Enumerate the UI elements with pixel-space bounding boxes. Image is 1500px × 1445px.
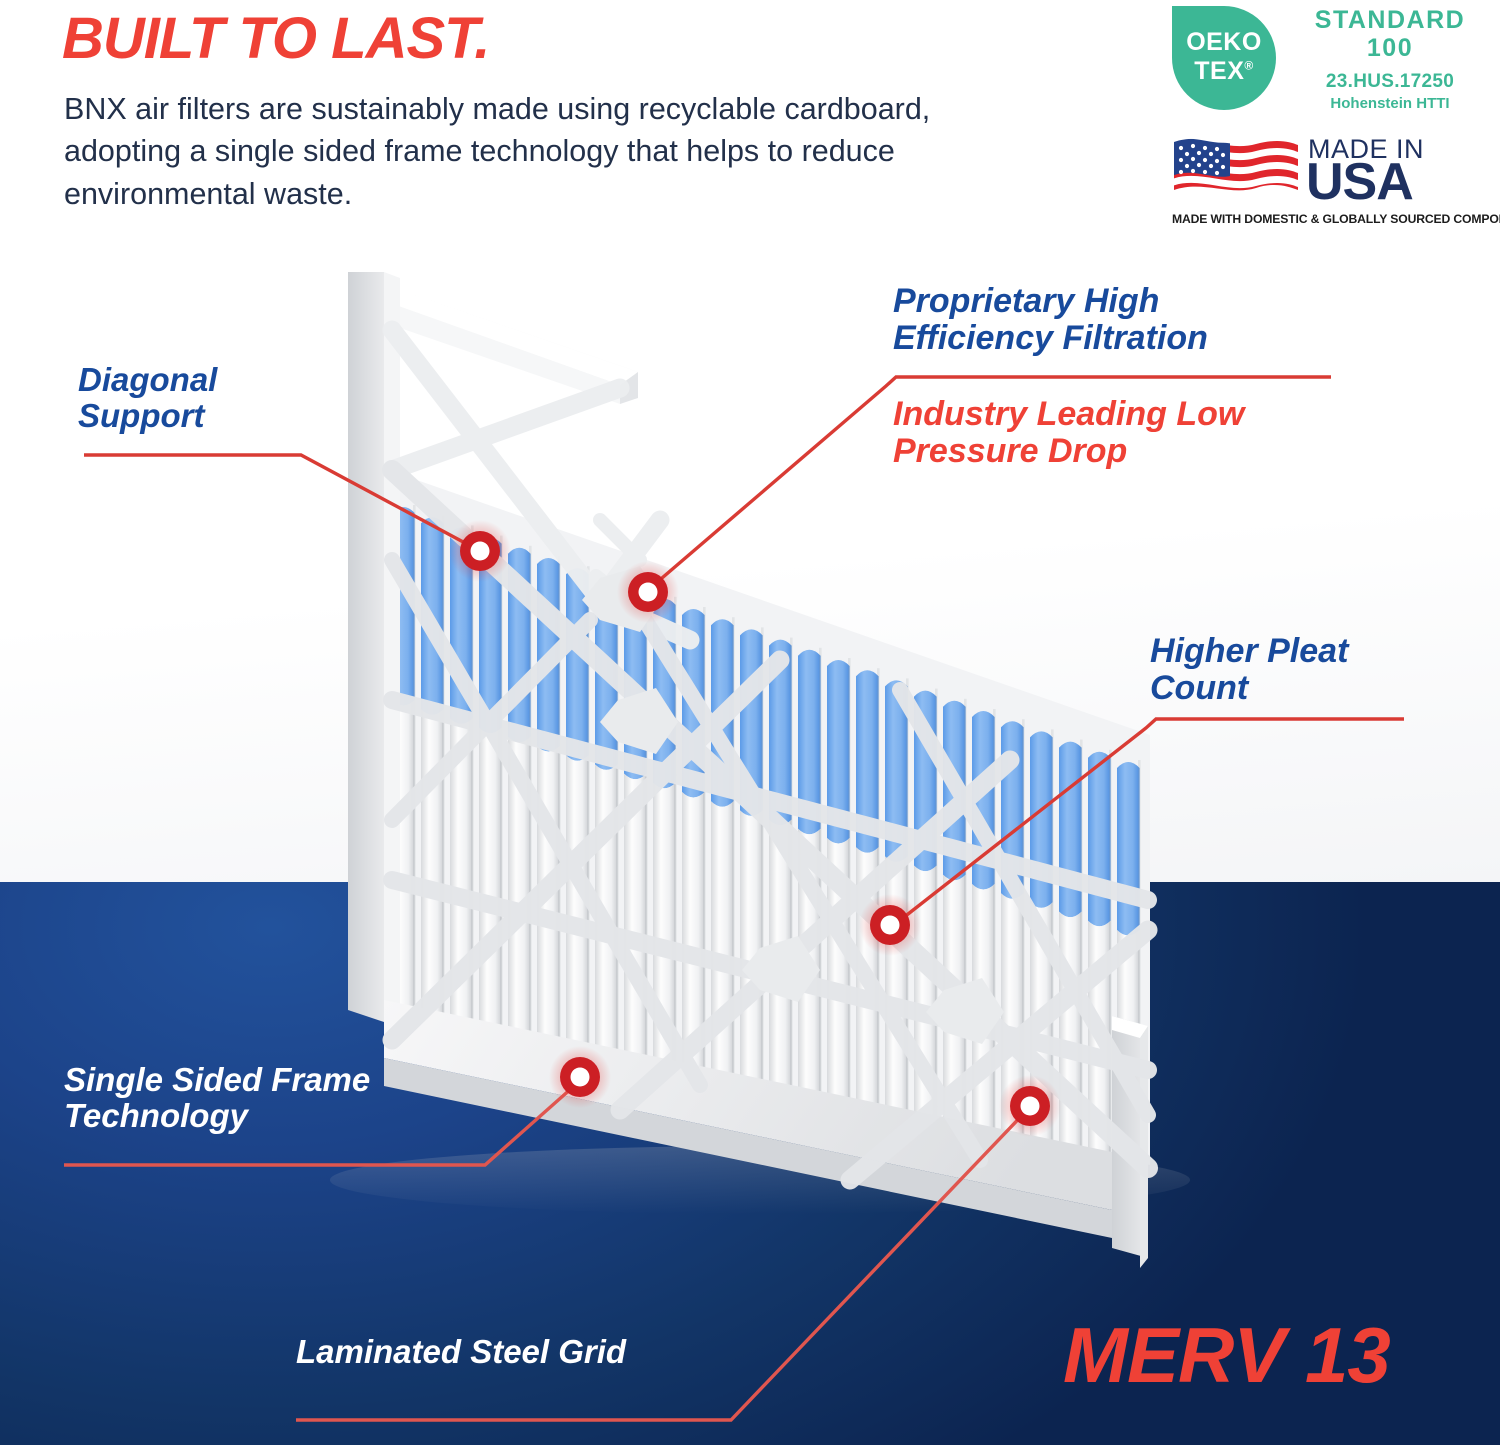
merv-rating-label: MERV 13 xyxy=(1063,1316,1390,1394)
callout-low-pressure-drop-line2: Pressure Drop xyxy=(893,433,1244,470)
callout-diagonal-support-line1: Diagonal xyxy=(78,362,217,398)
made-in-usa-line2: USA xyxy=(1306,156,1413,208)
callout-single-sided-frame-line2: Technology xyxy=(64,1098,370,1134)
oeko-tex-institute: Hohenstein HTTI xyxy=(1290,95,1490,112)
callout-single-sided-frame: Single Sided Frame Technology xyxy=(64,1062,370,1133)
callout-proprietary-filtration-line1: Proprietary High xyxy=(893,283,1208,320)
usa-flag-icon xyxy=(1172,132,1300,204)
callout-diagonal-support-line2: Support xyxy=(78,398,217,434)
oeko-tex-logo-line1: OEKO xyxy=(1172,30,1276,55)
callout-higher-pleat-count-line1: Higher Pleat xyxy=(1150,633,1348,670)
callout-laminated-steel-grid-line1: Laminated Steel Grid xyxy=(296,1334,626,1370)
made-in-usa-disclaimer: MADE WITH DOMESTIC & GLOBALLY SOURCED CO… xyxy=(1172,212,1492,226)
callout-higher-pleat-count-line2: Count xyxy=(1150,670,1348,707)
oeko-tex-logo-line2: TEX® xyxy=(1172,59,1276,84)
oeko-tex-text-block: STANDARD 100 23.HUS.17250 Hohenstein HTT… xyxy=(1290,6,1490,112)
infographic-root: BUILT TO LAST. BNX air filters are susta… xyxy=(0,0,1500,1445)
page-body-text: BNX air filters are sustainably made usi… xyxy=(64,88,944,215)
oeko-tex-droplet-logo: OEKO TEX® xyxy=(1172,6,1276,110)
made-in-usa-badge: MADE IN USA MADE WITH DOMESTIC & GLOBALL… xyxy=(1172,132,1492,232)
registered-trademark-icon: ® xyxy=(1244,59,1253,73)
callout-single-sided-frame-line1: Single Sided Frame xyxy=(64,1062,370,1098)
callout-low-pressure-drop-line1: Industry Leading Low xyxy=(893,396,1244,433)
callout-higher-pleat-count: Higher Pleat Count xyxy=(1150,633,1348,706)
callout-diagonal-support: Diagonal Support xyxy=(78,362,217,433)
callout-proprietary-filtration: Proprietary High Efficiency Filtration xyxy=(893,283,1208,356)
oeko-tex-badge: OEKO TEX® STANDARD 100 23.HUS.17250 Hohe… xyxy=(1172,6,1492,118)
callout-low-pressure-drop: Industry Leading Low Pressure Drop xyxy=(893,396,1244,469)
page-headline: BUILT TO LAST. xyxy=(62,8,489,71)
callout-laminated-steel-grid: Laminated Steel Grid xyxy=(296,1334,626,1370)
callout-proprietary-filtration-line2: Efficiency Filtration xyxy=(893,320,1208,357)
oeko-tex-certificate-code: 23.HUS.17250 xyxy=(1290,71,1490,93)
oeko-tex-standard: STANDARD 100 xyxy=(1290,6,1490,62)
